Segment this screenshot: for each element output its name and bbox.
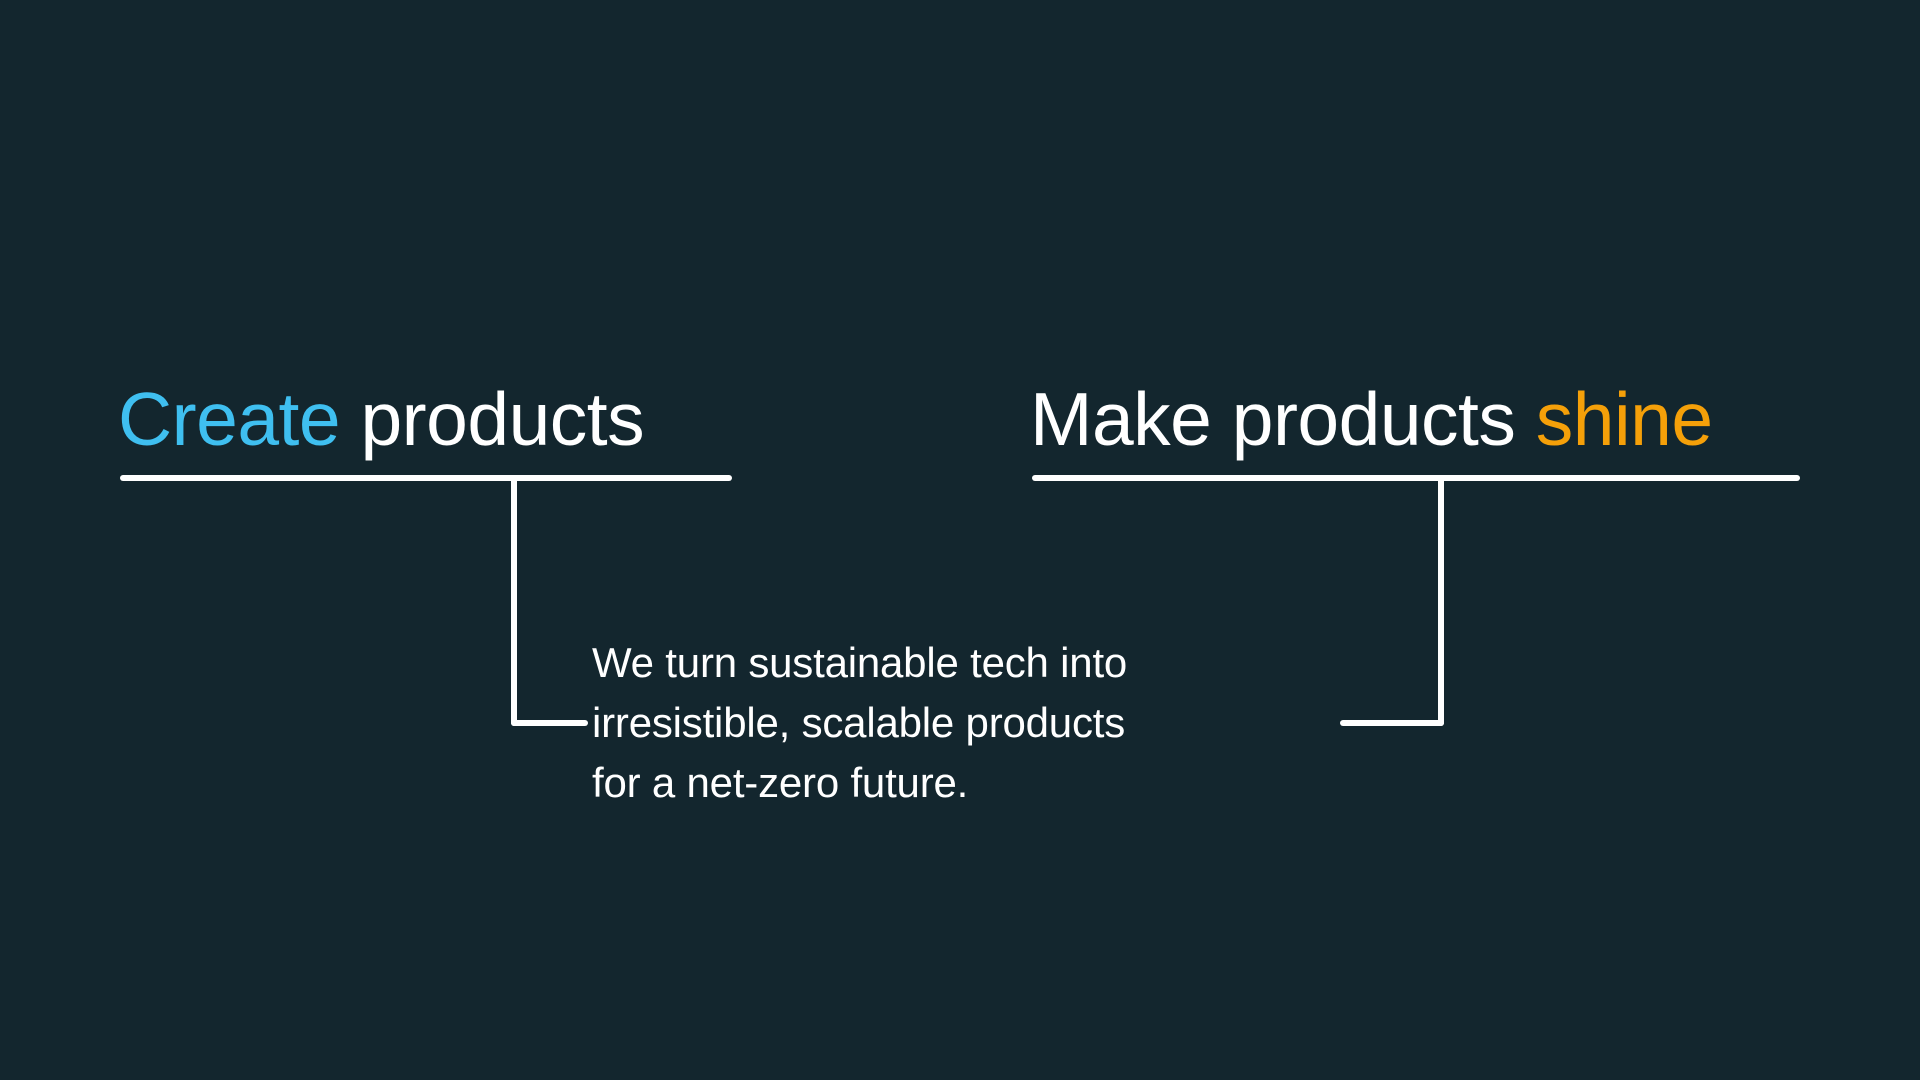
underline-rule-right [1032,475,1800,481]
underline-rule-left [120,475,732,481]
connector-vertical-right [1438,475,1444,726]
heading-right-plain-word: Make products [1030,377,1536,461]
body-line-1: We turn sustainable tech into [592,633,1372,693]
connector-stub-left [511,720,588,726]
body-line-2: irresistible, scalable products [592,693,1372,753]
heading-right: Make products shine [1030,382,1713,457]
connector-vertical-left [511,475,517,726]
heading-left: Create products [118,382,644,457]
heading-left-plain-word: products [340,377,644,461]
body-line-3: for a net-zero future. [592,753,1372,813]
heading-left-accent-word: Create [118,377,340,461]
slide-canvas: Create products Make products shine We t… [0,0,1920,1080]
body-paragraph: We turn sustainable tech into irresistib… [592,633,1372,813]
heading-right-accent-word: shine [1536,377,1713,461]
